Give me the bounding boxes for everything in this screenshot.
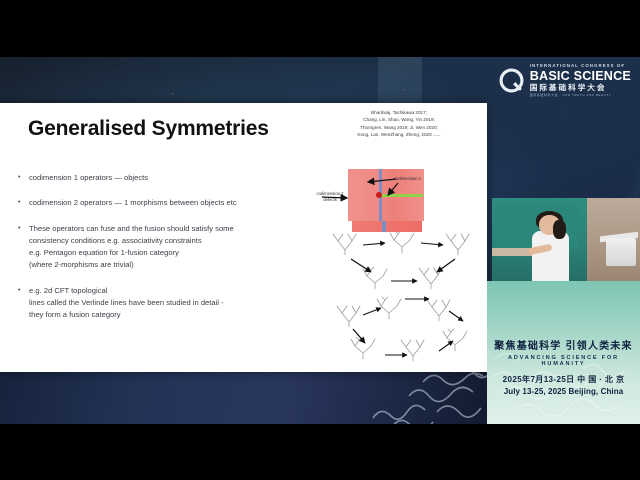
- arrow-tree-9: [353, 329, 365, 343]
- bullet-text: codimension 1 operators — objects: [29, 172, 148, 184]
- branding-panel: 聚焦基础科学 引领人类未来 ADVANCING SCIENCE FOR HUMA…: [487, 281, 640, 424]
- pentagon-equation-tree-diagrams: [327, 225, 477, 365]
- arrow-tree-1: [363, 243, 385, 245]
- arrow-tree-3: [351, 259, 371, 272]
- slogan-chinese: 聚焦基础科学 引领人类未来: [487, 337, 640, 352]
- presentation-slide: Generalised Symmetries Bhardwaj, Tachika…: [0, 103, 487, 372]
- event-date-chinese: 2025年7月13-25日 中 国 · 北 京: [487, 374, 640, 385]
- logo-line-tagline: 国际基础科学大会 · FOR TRUTH AND BEAUTY: [530, 94, 631, 97]
- slide-title: Generalised Symmetries: [28, 117, 269, 141]
- congress-logo-mark: [499, 68, 524, 93]
- bullet-marker: •: [16, 197, 29, 209]
- bottom-banner: [0, 372, 487, 424]
- screenshot-stage: INTERNATIONAL CONGRESS OF BASIC SCIENCE …: [0, 0, 640, 480]
- defect-strip-line: [382, 221, 386, 232]
- codimension-1-label: codimension 1: [394, 176, 421, 182]
- banner-knot-pattern-icon: [363, 372, 487, 424]
- arrow-tree-8: [449, 311, 463, 321]
- list-item: • These operators can fuse and the fusio…: [16, 223, 311, 272]
- logo-line-basic-science: BASIC SCIENCE: [530, 70, 631, 83]
- speaker-video-feed[interactable]: [492, 198, 640, 281]
- logo-line-international: INTERNATIONAL CONGRESS OF: [530, 64, 631, 68]
- defect-point: [376, 192, 382, 198]
- bullet-marker: •: [16, 285, 29, 322]
- branding-text: 聚焦基础科学 引领人类未来 ADVANCING SCIENCE FOR HUMA…: [487, 337, 640, 396]
- codimension-2-line: [381, 194, 423, 197]
- speaker-hair-side: [553, 220, 566, 240]
- speaker-body: [532, 231, 569, 281]
- logo-line-chinese: 国际基础科学大会: [530, 84, 631, 92]
- slide-bullet-list: • codimension 1 operators — objects • co…: [16, 172, 311, 335]
- arrow-tree-11: [439, 341, 453, 351]
- event-date-english: July 13-25, 2025 Beijing, China: [487, 387, 640, 396]
- arrow-tree-4: [437, 259, 455, 272]
- list-item: • codimension 1 operators — objects: [16, 172, 311, 184]
- arrow-tree-2: [421, 243, 443, 245]
- bullet-text: codimension 2 operators — 1 morphisms be…: [29, 197, 237, 209]
- bullet-text: e.g. 2d CFT topological lines called the…: [29, 285, 224, 322]
- bullet-marker: •: [16, 223, 29, 272]
- slogan-english: ADVANCING SCIENCE FOR HUMANITY: [487, 355, 640, 367]
- list-item: • codimension 2 operators — 1 morphisms …: [16, 197, 311, 209]
- letterbox-bottom: [0, 424, 640, 480]
- defect-plane-strip: [352, 221, 422, 232]
- bullet-marker: •: [16, 172, 29, 184]
- list-item: • e.g. 2d CFT topological lines called t…: [16, 285, 311, 322]
- congress-logo-text: INTERNATIONAL CONGRESS OF BASIC SCIENCE …: [530, 64, 631, 97]
- citation-references: Bhardwaj, Tachikawa 2017; Chang, Lin, Sh…: [333, 109, 465, 138]
- congress-logo: INTERNATIONAL CONGRESS OF BASIC SCIENCE …: [499, 64, 631, 97]
- camera-podium: [606, 238, 636, 266]
- codimension-2-label: codimension 2 defects: [310, 191, 350, 202]
- letterbox-top: [0, 0, 640, 57]
- bullet-text: These operators can fuse and the fusion …: [29, 223, 234, 272]
- arrow-tree-6: [363, 308, 381, 315]
